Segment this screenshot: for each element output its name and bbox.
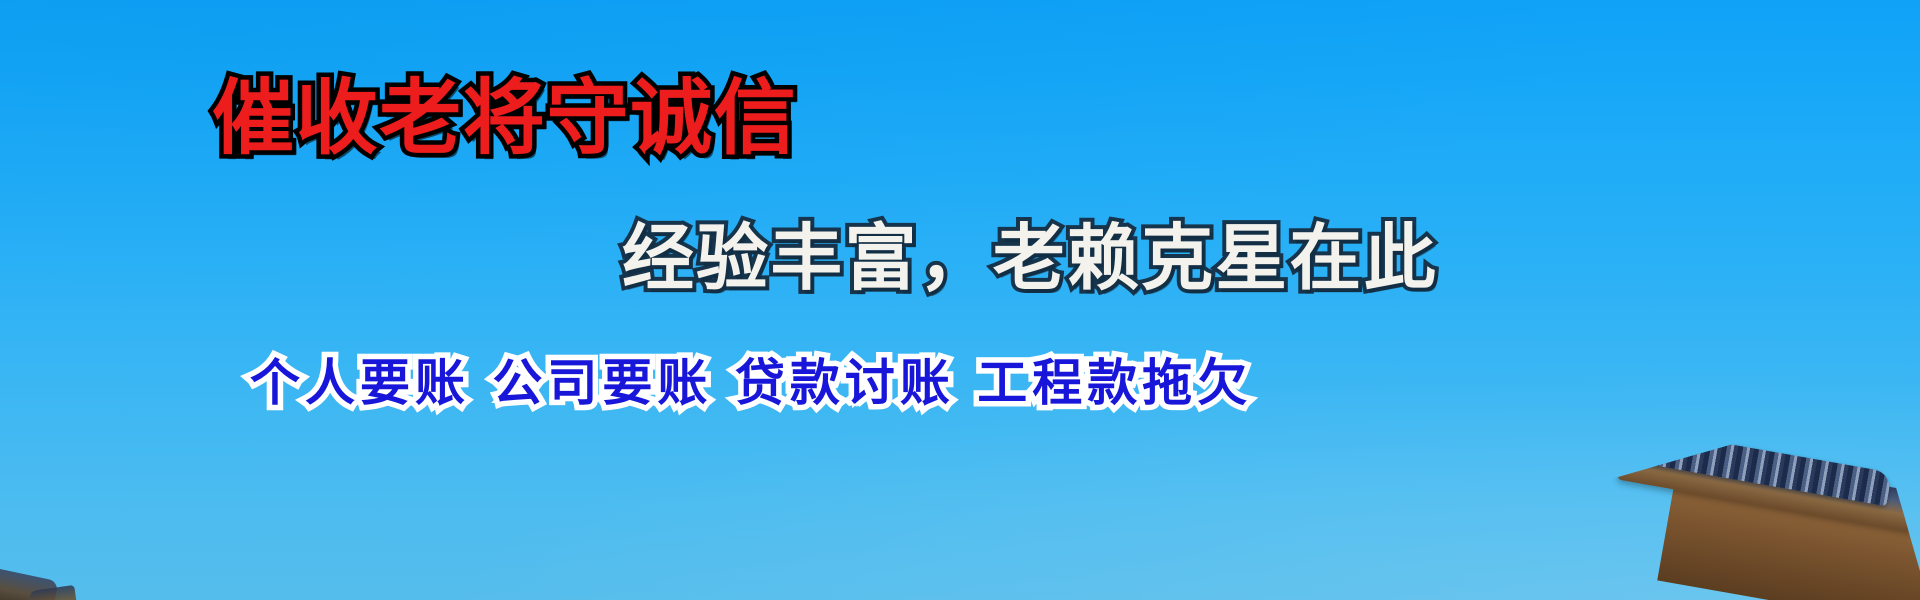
banner-services-list: 个人要账 公司要账 贷款讨账 工程款拖欠 bbox=[250, 358, 1252, 408]
banner-headline: 催收老将守诚信 bbox=[212, 78, 797, 160]
banner-subheadline: 经验丰富，老赖克星在此 bbox=[622, 222, 1438, 294]
debt-collection-banner: 催收老将守诚信 经验丰富，老赖克星在此 个人要账 公司要账 贷款讨账 工程款拖欠 bbox=[0, 0, 1920, 600]
roof-fragment-left-icon bbox=[0, 528, 96, 600]
